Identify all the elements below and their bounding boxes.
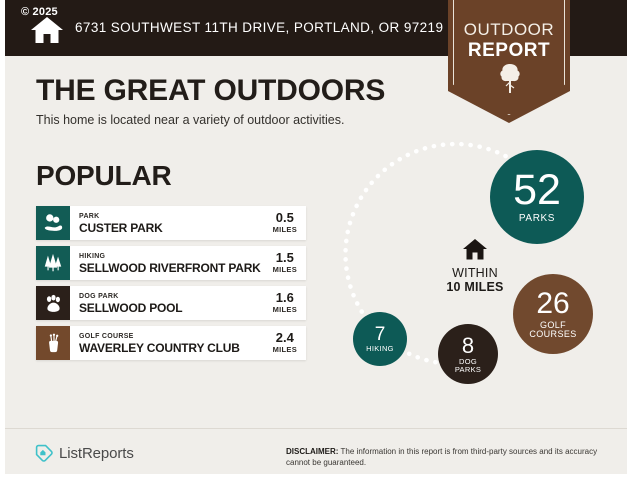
distance-value: 0.5 — [273, 211, 297, 225]
list-item-category: HIKING — [79, 252, 273, 261]
stat-value: 26 — [536, 289, 569, 319]
center-line-2: 10 MILES — [415, 280, 535, 294]
list-item[interactable]: GOLF COURSE WAVERLEY COUNTRY CLUB 2.4 MI… — [36, 326, 306, 360]
listreports-logo[interactable]: ListReports — [35, 444, 134, 463]
list-item-category: PARK — [79, 212, 273, 221]
list-item-category: GOLF COURSE — [79, 332, 273, 341]
center-line-1: WITHIN — [415, 266, 535, 280]
listreports-house-icon — [35, 444, 53, 463]
stat-label-line-2: PARKS — [455, 366, 481, 374]
list-item[interactable]: HIKING SELLWOOD RIVERFRONT PARK 1.5 MILE… — [36, 246, 306, 280]
tree-icon — [498, 62, 522, 94]
distance-unit: MILES — [273, 225, 297, 235]
paw-print-icon — [36, 286, 70, 320]
outdoor-report-page: © 2025 6731 SOUTHWEST 11TH DRIVE, PORTLA… — [0, 0, 640, 480]
distance-unit: MILES — [273, 345, 297, 355]
badge-line-2: REPORT — [448, 40, 570, 62]
distance-value: 1.6 — [273, 291, 297, 305]
list-item[interactable]: PARK CUSTER PARK 0.5 MILES — [36, 206, 306, 240]
list-item-name: WAVERLEY COUNTRY CLUB — [79, 341, 273, 355]
outdoor-report-badge: OUTDOOR REPORT — [448, 0, 570, 123]
distance-value: 1.5 — [273, 251, 297, 265]
within-10-miles-chart: 52 PARKS 26 GOLF COURSES 8 DOG PARKS 7 H… — [335, 138, 627, 418]
page-title: THE GREAT OUTDOORS — [36, 74, 385, 108]
list-item-name: CUSTER PARK — [79, 221, 273, 235]
list-item-distance: 1.5 MILES — [273, 251, 306, 275]
stat-label-line-2: COURSES — [529, 330, 576, 339]
stat-value: 7 — [375, 325, 386, 344]
stat-value: 8 — [462, 335, 474, 357]
stat-label: PARKS — [519, 214, 555, 225]
stat-label: HIKING — [366, 345, 394, 353]
stat-bubble-hiking[interactable]: 7 HIKING — [353, 312, 407, 366]
badge-line-1: OUTDOOR — [448, 20, 570, 40]
list-item-distance: 1.6 MILES — [273, 291, 306, 315]
chart-center-label: WITHIN 10 MILES — [415, 238, 535, 294]
report-canvas: © 2025 6731 SOUTHWEST 11TH DRIVE, PORTLA… — [5, 0, 627, 474]
pine-trees-icon — [36, 246, 70, 280]
list-item-text: HIKING SELLWOOD RIVERFRONT PARK — [70, 252, 273, 275]
popular-list: PARK CUSTER PARK 0.5 MILES HIKING SELLWO… — [36, 206, 306, 366]
stat-value: 52 — [513, 169, 561, 212]
list-item-distance: 2.4 MILES — [273, 331, 306, 355]
park-tree-icon — [36, 206, 70, 240]
footer-divider — [5, 428, 627, 429]
home-icon — [462, 238, 488, 261]
list-item-name: SELLWOOD POOL — [79, 301, 273, 315]
disclaimer: DISCLAIMER: The information in this repo… — [286, 446, 616, 468]
golf-bag-icon — [36, 326, 70, 360]
list-item-distance: 0.5 MILES — [273, 211, 306, 235]
distance-value: 2.4 — [273, 331, 297, 345]
list-item-category: DOG PARK — [79, 292, 273, 301]
list-item-name: SELLWOOD RIVERFRONT PARK — [79, 261, 273, 275]
distance-unit: MILES — [273, 265, 297, 275]
page-subtitle: This home is located near a variety of o… — [36, 113, 344, 127]
home-icon — [30, 15, 64, 45]
disclaimer-label: DISCLAIMER: — [286, 447, 338, 456]
list-item-text: GOLF COURSE WAVERLEY COUNTRY CLUB — [70, 332, 273, 355]
listreports-logo-text: ListReports — [59, 445, 134, 462]
stat-bubble-dog-parks[interactable]: 8 DOG PARKS — [438, 324, 498, 384]
stat-bubble-parks[interactable]: 52 PARKS — [490, 150, 584, 244]
list-item[interactable]: DOG PARK SELLWOOD POOL 1.6 MILES — [36, 286, 306, 320]
list-item-text: PARK CUSTER PARK — [70, 212, 273, 235]
list-item-text: DOG PARK SELLWOOD POOL — [70, 292, 273, 315]
property-address: 6731 SOUTHWEST 11TH DRIVE, PORTLAND, OR … — [75, 20, 443, 35]
popular-heading: POPULAR — [36, 160, 172, 192]
distance-unit: MILES — [273, 305, 297, 315]
